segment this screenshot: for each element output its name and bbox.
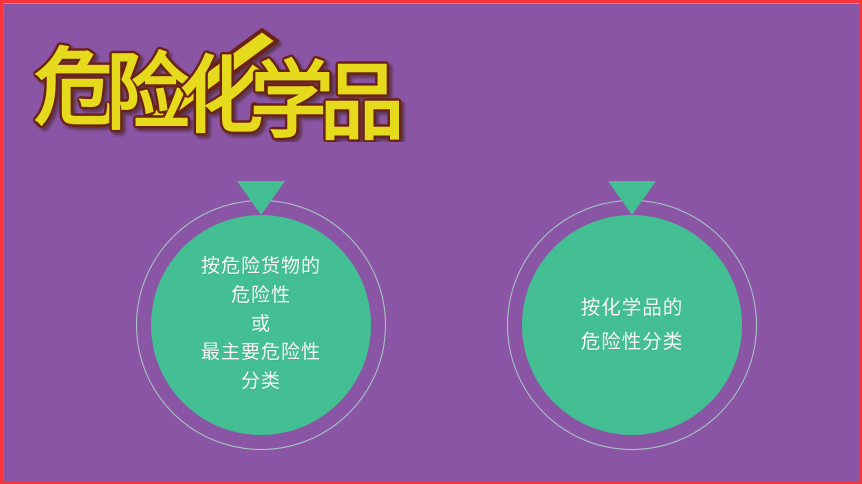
- triangle-down-marker: [237, 181, 285, 215]
- triangle-down-marker: [608, 181, 656, 215]
- node-hazardous-goods[interactable]: 按危险货物的 危险性 或 最主要危险性 分类: [136, 200, 386, 450]
- node-label: 按危险货物的 危险性 或 最主要危险性 分类: [193, 253, 329, 397]
- node-disc[interactable]: 按化学品的 危险性分类: [522, 215, 742, 435]
- title-glyph-4: 品: [320, 54, 402, 142]
- title-glyph-0: 危: [34, 39, 116, 137]
- node-disc[interactable]: 按危险货物的 危险性 或 最主要危险性 分类: [151, 215, 371, 435]
- node-label: 按化学品的 危险性分类: [573, 291, 692, 359]
- title-glyph-1: 险: [106, 44, 191, 142]
- page-title: 危 险 化 学 品: [30, 22, 430, 142]
- node-chemicals[interactable]: 按化学品的 危险性分类: [507, 200, 757, 450]
- slide-canvas: 按危险货物的 危险性 或 最主要危险性 分类 按化学品的 危险性分类 危: [0, 0, 862, 484]
- title-artwork: 危 险 化 学 品: [30, 22, 430, 142]
